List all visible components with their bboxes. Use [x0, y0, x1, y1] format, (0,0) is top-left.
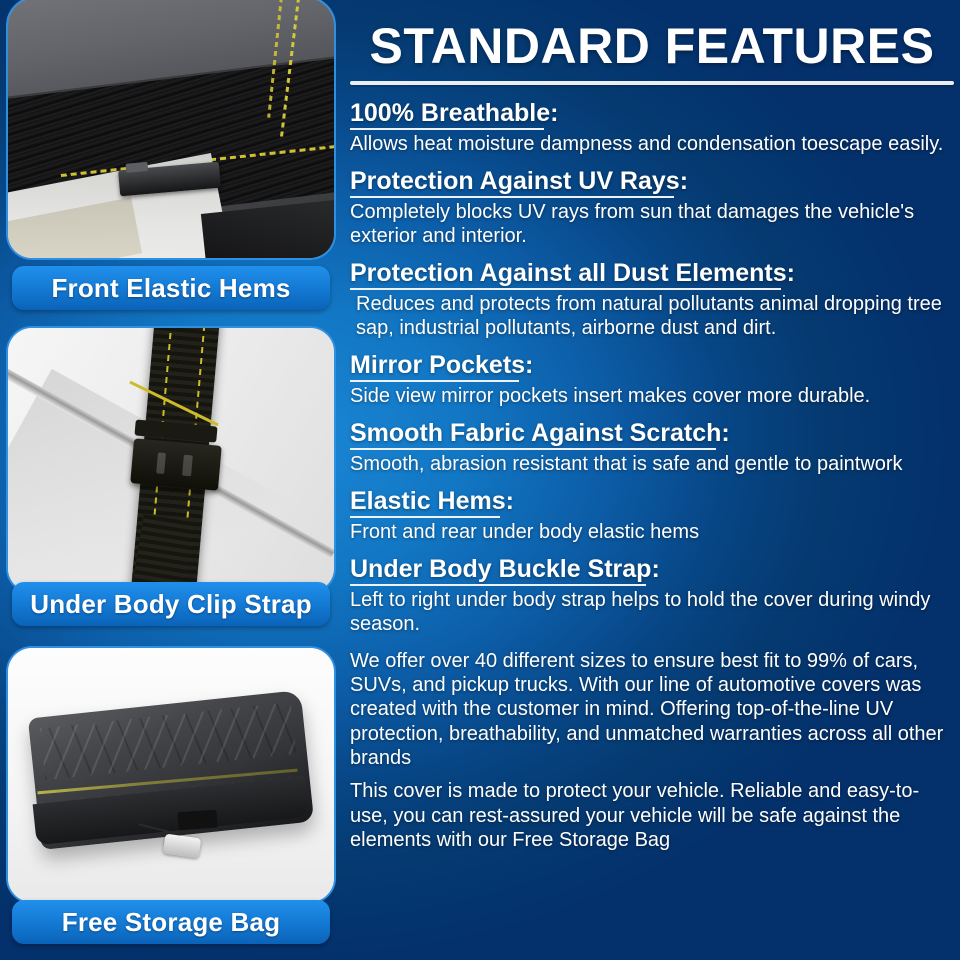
page-title: STANDARD FEATURES [344, 0, 960, 73]
feature-uv-rays: Protection Against UV Rays: Completely b… [350, 167, 956, 248]
front-elastic-hems-image [8, 0, 334, 258]
feature-body: Smooth, abrasion resistant that is safe … [350, 452, 956, 476]
feature-under-body-buckle-strap: Under Body Buckle Strap: Left to right u… [350, 555, 956, 636]
caption-label: Free Storage Bag [62, 907, 281, 938]
product-photo-card-free-storage-bag [6, 646, 336, 904]
features-list: 100% Breathable: Allows heat moisture da… [344, 85, 960, 853]
feature-heading: Elastic Hems: [350, 487, 514, 518]
product-photo-card-under-body-clip-strap [6, 326, 336, 594]
bag-clip [177, 809, 217, 829]
photo-caption-front-elastic-hems: Front Elastic Hems [12, 266, 330, 310]
feature-body: Left to right under body strap helps to … [350, 588, 956, 636]
feature-breathable: 100% Breathable: Allows heat moisture da… [350, 99, 956, 156]
caption-label: Under Body Clip Strap [30, 589, 312, 620]
feature-smooth-fabric: Smooth Fabric Against Scratch: Smooth, a… [350, 419, 956, 476]
marketing-paragraph-protection: This cover is made to protect your vehic… [350, 779, 956, 852]
photo-caption-free-storage-bag: Free Storage Bag [12, 900, 330, 944]
feature-heading: Smooth Fabric Against Scratch: [350, 419, 730, 450]
feature-mirror-pockets: Mirror Pockets: Side view mirror pockets… [350, 351, 956, 408]
free-storage-bag-image [8, 648, 334, 902]
feature-heading: Mirror Pockets: [350, 351, 533, 382]
plastic-buckle [130, 438, 222, 490]
feature-dust-elements: Protection Against all Dust Elements: Re… [350, 259, 956, 340]
feature-body: Side view mirror pockets insert makes co… [350, 384, 956, 408]
features-panel: STANDARD FEATURES 100% Breathable: Allow… [344, 0, 960, 960]
product-photo-column: Front Elastic Hems Under Body Clip Strap [0, 0, 340, 960]
feature-heading: Protection Against UV Rays: [350, 167, 688, 198]
feature-heading: Under Body Buckle Strap: [350, 555, 660, 586]
marketing-paragraph-sizes: We offer over 40 different sizes to ensu… [350, 649, 956, 771]
under-body-clip-strap-image [8, 328, 334, 592]
feature-body: Allows heat moisture dampness and conden… [350, 132, 956, 156]
marketing-copy: We offer over 40 different sizes to ensu… [350, 649, 956, 853]
product-photo-card-front-elastic-hems [6, 0, 336, 260]
feature-body: Front and rear under body elastic hems [350, 520, 956, 544]
feature-heading: Protection Against all Dust Elements: [350, 259, 795, 290]
feature-elastic-hems: Elastic Hems: Front and rear under body … [350, 487, 956, 544]
strap-tail [133, 514, 195, 590]
feature-body: Completely blocks UV rays from sun that … [350, 200, 956, 248]
feature-body: Reduces and protects from natural pollut… [350, 292, 956, 340]
feature-heading: 100% Breathable: [350, 99, 558, 130]
promo-banner: Front Elastic Hems Under Body Clip Strap [0, 0, 960, 960]
caption-label: Front Elastic Hems [51, 273, 290, 304]
photo-caption-under-body-clip-strap: Under Body Clip Strap [12, 582, 330, 626]
